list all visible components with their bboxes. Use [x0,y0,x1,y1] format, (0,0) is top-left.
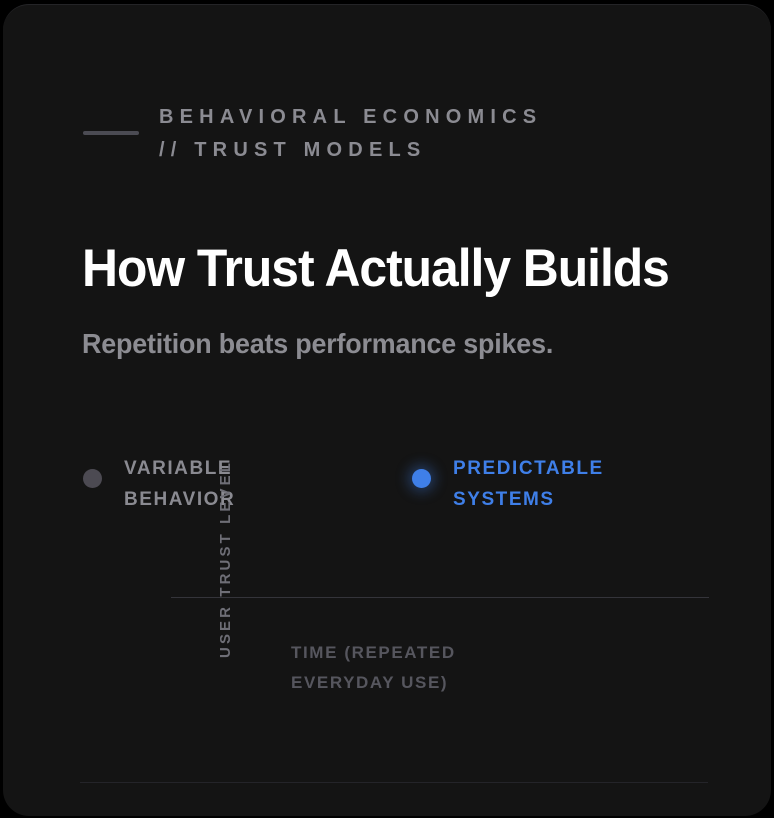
legend-item-variable-behavior[interactable]: VARIABLE BEHAVIOR [83,453,235,515]
x-axis-line [171,597,709,598]
variable-behavior-dot [83,469,102,488]
legend-label-predictable-systems: PREDICTABLE SYSTEMS [453,453,604,515]
page-title: How Trust Actually Builds [82,237,669,301]
eyebrow-text: BEHAVIORAL ECONOMICS // TRUST MODELS [159,101,759,167]
chart-plot-area: USER TRUST LEVEL TIME (REPEATED EVERYDAY… [143,510,713,725]
y-axis-label: USER TRUST LEVEL [217,454,235,664]
page-subtitle: Repetition beats performance spikes. [82,325,553,363]
footer-divider [80,782,708,783]
predictable-systems-dot [412,469,431,488]
eyebrow-rule [83,131,139,135]
x-axis-label: TIME (REPEATED EVERYDAY USE) [291,638,611,698]
legend-item-predictable-systems[interactable]: PREDICTABLE SYSTEMS [412,453,604,515]
slide-card: BEHAVIORAL ECONOMICS // TRUST MODELS How… [3,4,771,816]
